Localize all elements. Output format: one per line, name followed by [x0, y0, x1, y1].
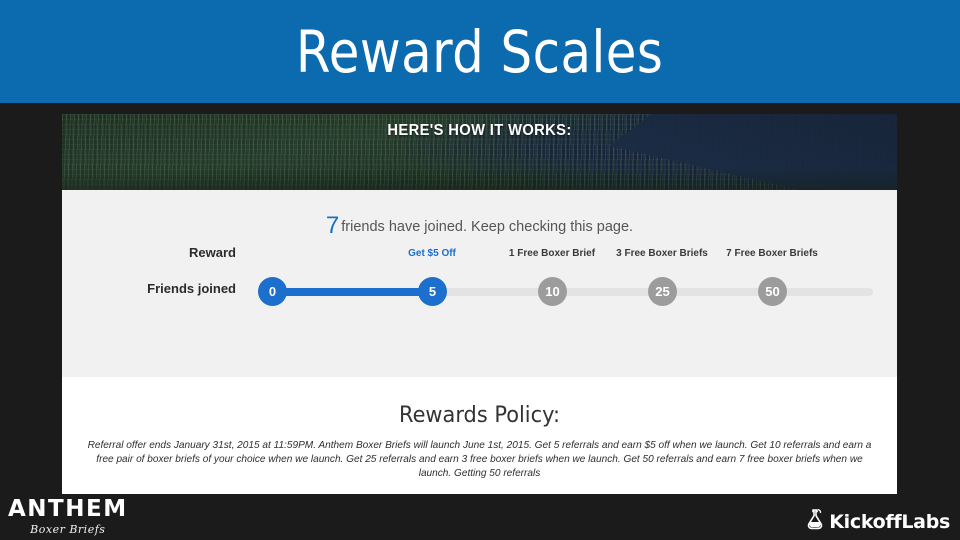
banner-heading: HERE'S HOW IT WORKS: [95, 122, 863, 140]
anthem-logo-word: ANTHEM [8, 498, 128, 521]
friends-joined-message: 7friends have joined. Keep checking this… [62, 212, 897, 240]
referral-page-card: HERE'S HOW IT WORKS: 7friends have joine… [62, 114, 897, 494]
milestone-node-1[interactable]: 5 [418, 277, 447, 306]
slide: Reward Scales HERE'S HOW IT WORKS: 7frie… [0, 0, 960, 540]
friends-joined-count: 7 [326, 212, 341, 239]
milestone-reward-label-4: 7 Free Boxer Briefs [726, 248, 818, 259]
milestone-value-2: 10 [545, 284, 559, 299]
milestone-value-3: 25 [655, 284, 669, 299]
milestone-value-1: 5 [429, 284, 436, 299]
milestone-reward-label-2: 1 Free Boxer Brief [509, 248, 595, 259]
banner-shade [62, 167, 897, 190]
kickofflabs-logo-text: KickoffLabs [829, 511, 950, 533]
milestone-value-4: 50 [765, 284, 779, 299]
label-friends-joined: Friends joined [62, 282, 242, 295]
progress-track-fill [270, 288, 432, 296]
tracker-row-labels: Reward Friends joined [62, 246, 242, 295]
milestone-reward-label-3: 3 Free Boxer Briefs [616, 248, 708, 259]
friends-joined-text: friends have joined. Keep checking this … [341, 219, 633, 235]
rewards-policy-text: Referral offer ends January 31st, 2015 a… [86, 439, 873, 481]
anthem-logo-subtitle: Boxer Briefs [8, 523, 128, 536]
rewards-policy-heading: Rewards Policy: [83, 403, 876, 428]
page-title: Reward Scales [296, 23, 663, 81]
flask-icon [805, 508, 825, 535]
milestone-node-0[interactable]: 0 [258, 277, 287, 306]
milestone-node-4[interactable]: 50 [758, 277, 787, 306]
slide-title-bar: Reward Scales [0, 0, 960, 103]
milestone-reward-label-1: Get $5 Off [408, 248, 456, 259]
anthem-logo: ANTHEM Boxer Briefs [8, 498, 128, 536]
progress-track: 0 Get $5 Off 5 1 Free Boxer Brief 10 3 F… [258, 246, 873, 306]
kickofflabs-logo: KickoffLabs [805, 508, 950, 535]
reward-tracker-section: 7friends have joined. Keep checking this… [62, 190, 897, 377]
milestone-node-3[interactable]: 25 [648, 277, 677, 306]
rewards-policy-section: Rewards Policy: Referral offer ends Janu… [62, 377, 897, 494]
milestone-node-2[interactable]: 10 [538, 277, 567, 306]
banner-photo: HERE'S HOW IT WORKS: [62, 114, 897, 190]
label-reward: Reward [62, 246, 242, 259]
milestone-value-0: 0 [269, 284, 276, 299]
